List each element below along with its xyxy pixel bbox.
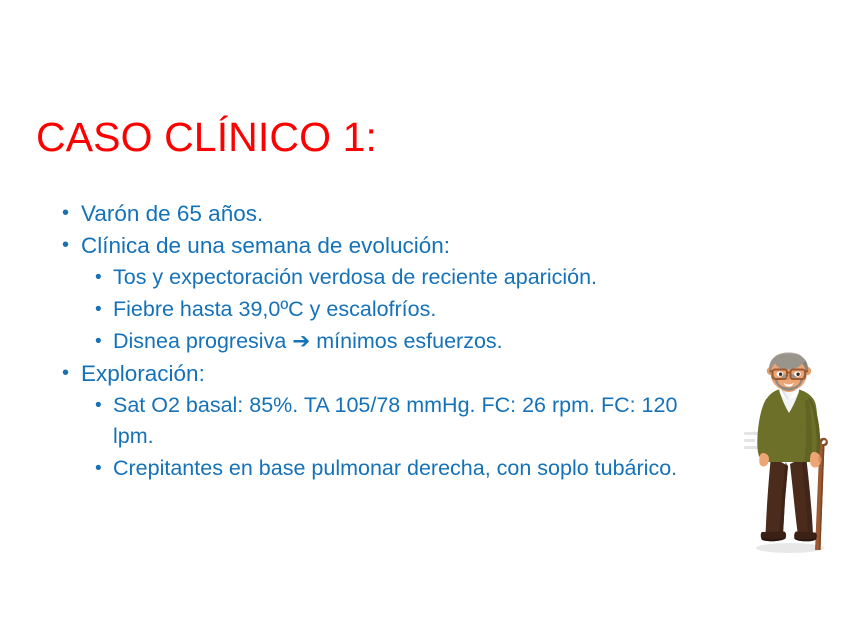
- list-item-label: Sat O2 basal: 85%. TA 105/78 mmHg. FC: 2…: [113, 390, 722, 452]
- bullet-icon: •: [95, 262, 113, 293]
- bullet-icon: •: [95, 326, 113, 357]
- list-item: • Disnea progresiva ➔ mínimos esfuerzos.: [95, 326, 722, 357]
- list-item: • Tos y expectoración verdosa de recient…: [95, 262, 722, 293]
- list-item-label: Exploración:: [81, 358, 722, 389]
- list-item-label: Tos y expectoración verdosa de reciente …: [113, 262, 722, 293]
- list-item-label: Varón de 65 años.: [81, 198, 722, 229]
- bullet-icon: •: [62, 230, 81, 261]
- list-item: • Fiebre hasta 39,0ºC y escalofríos.: [95, 294, 722, 325]
- list-item-label: Clínica de una semana de evolución:: [81, 230, 722, 261]
- list-item: • Crepitantes en base pulmonar derecha, …: [95, 453, 722, 484]
- list-item: • Clínica de una semana de evolución:: [62, 230, 722, 261]
- bullet-icon: •: [95, 390, 113, 421]
- list-item-label: Fiebre hasta 39,0ºC y escalofríos.: [113, 294, 722, 325]
- slide-canvas: CASO CLÍNICO 1: • Varón de 65 años. • Cl…: [0, 0, 848, 636]
- list-item: • Sat O2 basal: 85%. TA 105/78 mmHg. FC:…: [95, 390, 722, 452]
- shoes: [761, 532, 817, 542]
- sweater: [757, 387, 820, 463]
- bullet-icon: •: [62, 198, 81, 229]
- page-title: CASO CLÍNICO 1:: [36, 113, 377, 161]
- bullet-icon: •: [62, 358, 81, 389]
- bullet-icon: •: [95, 294, 113, 325]
- list-item-label: Crepitantes en base pulmonar derecha, co…: [113, 453, 722, 484]
- trousers: [766, 456, 814, 536]
- list-item: • Varón de 65 años.: [62, 198, 722, 229]
- list-item: • Exploración:: [62, 358, 722, 389]
- list-item-label: Disnea progresiva ➔ mínimos esfuerzos.: [113, 326, 722, 357]
- bullet-list: • Varón de 65 años. • Clínica de una sem…: [62, 198, 722, 485]
- figure-shadow: [756, 543, 824, 553]
- bullet-icon: •: [95, 453, 113, 484]
- elderly-man-illustration: [738, 352, 848, 557]
- head: [767, 353, 811, 391]
